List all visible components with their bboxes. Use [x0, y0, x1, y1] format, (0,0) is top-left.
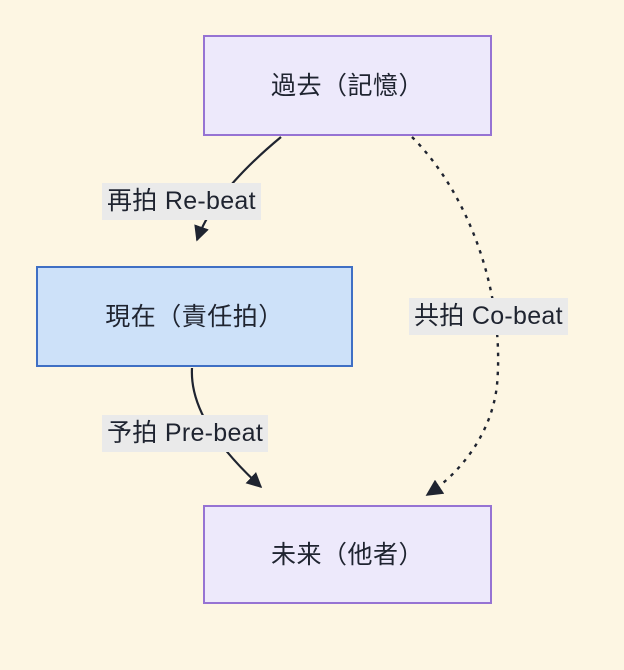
node-past-label: 過去（記憶）	[271, 71, 424, 101]
diagram-canvas: 過去（記憶） 現在（責任拍） 未来（他者） 再拍 Re‑beat 予拍 Pre‑…	[0, 0, 624, 670]
node-past[interactable]: 過去（記憶）	[203, 35, 492, 136]
node-future-label: 未来（他者）	[271, 540, 424, 570]
edge-label-re-beat: 再拍 Re‑beat	[102, 183, 261, 220]
node-future[interactable]: 未来（他者）	[203, 505, 492, 604]
edge-label-pre-beat: 予拍 Pre‑beat	[102, 415, 268, 452]
edge-label-co-beat: 共拍 Co‑beat	[409, 298, 568, 335]
node-present-label: 現在（責任拍）	[105, 302, 284, 332]
node-present[interactable]: 現在（責任拍）	[36, 266, 353, 367]
